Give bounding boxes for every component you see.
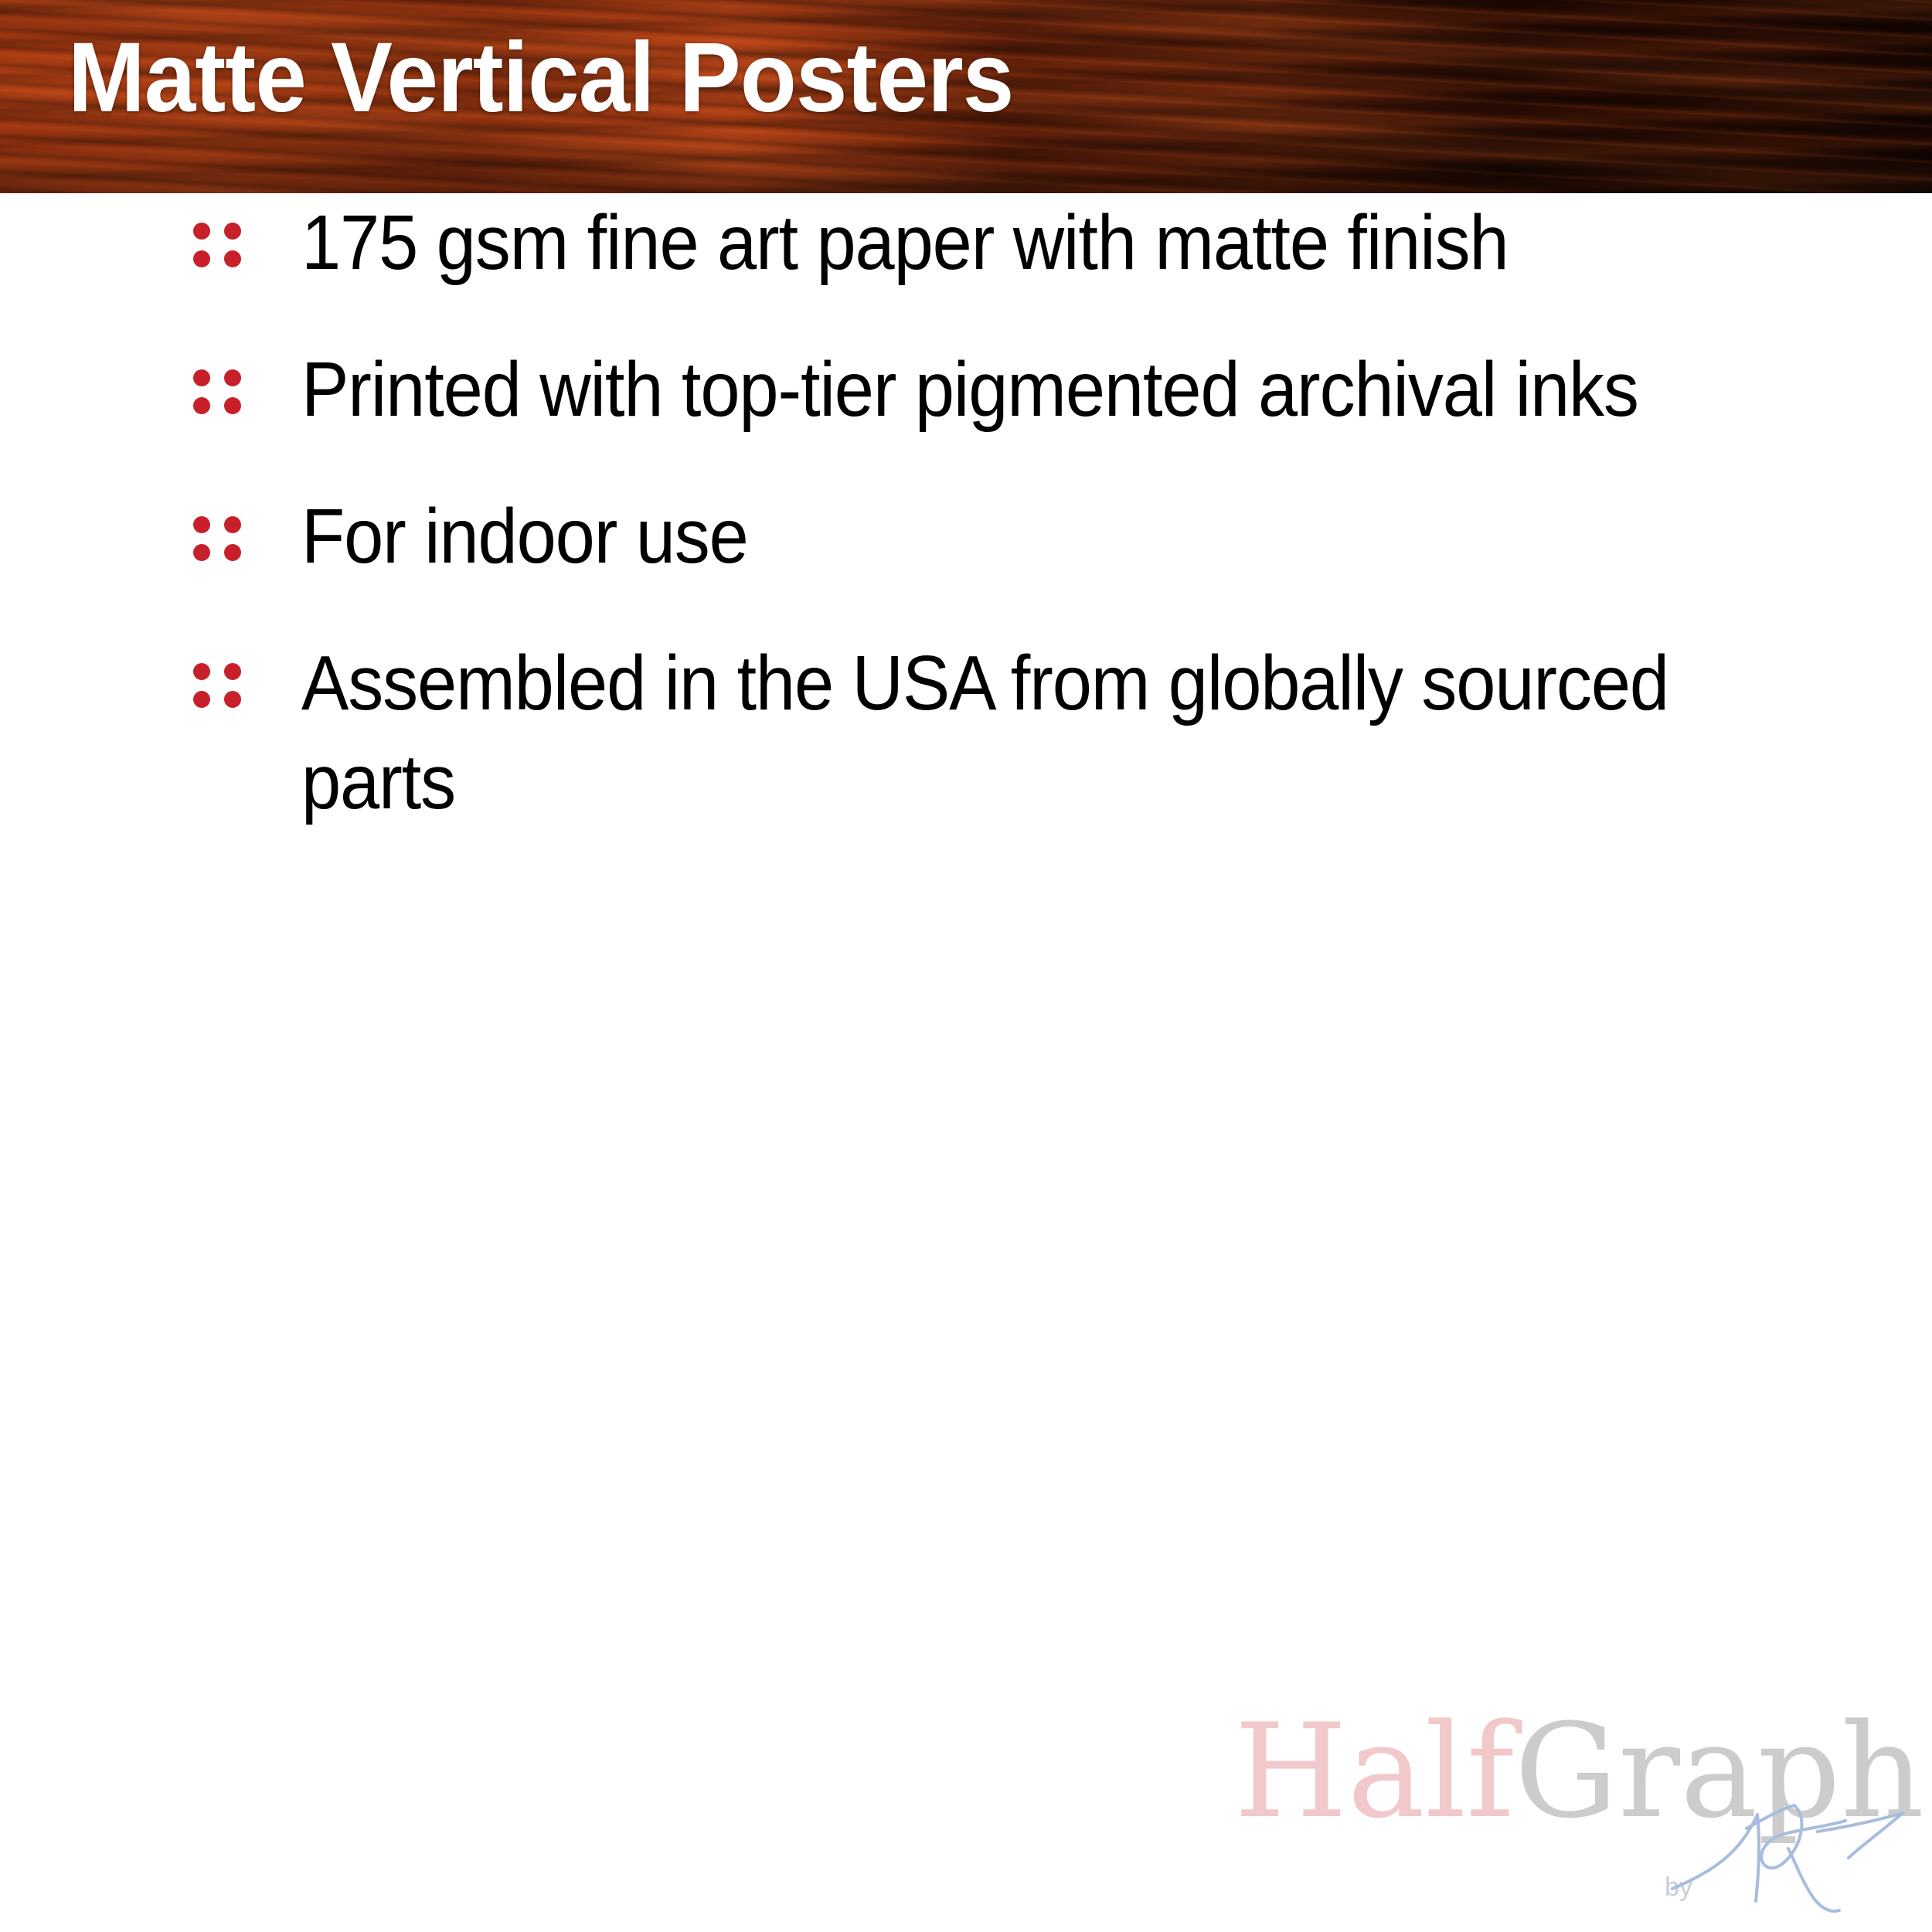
poster-info-slide: Matte Vertical Posters 175 gsm fine art … [0, 0, 1932, 1932]
bullet-dot [193, 544, 210, 561]
bullet-dot [224, 223, 241, 240]
bullet-dot [193, 223, 210, 240]
list-item: Assembled in the USA from globally sourc… [0, 634, 1932, 832]
bullet-dot [224, 397, 241, 414]
bullet-dot [224, 544, 241, 561]
list-item: 175 gsm fine art paper with matte finish [0, 193, 1932, 292]
bullet-dot [224, 663, 241, 680]
bullet-dot [193, 663, 210, 680]
list-item-label: Assembled in the USA from globally sourc… [301, 634, 1716, 832]
watermark-wordmark: HalfGraph [1229, 1706, 1924, 1836]
watermark-byline: by [1665, 1872, 1692, 1903]
watermark: HalfGraph by [1229, 1692, 1924, 1924]
signature-icon [1666, 1798, 1913, 1929]
page-title: Matte Vertical Posters [68, 26, 1013, 130]
bullet-dot [193, 397, 210, 414]
bullet-dot [224, 369, 241, 386]
bullet-dot [224, 691, 241, 708]
feature-list: 175 gsm fine art paper with matte finish… [0, 193, 1932, 879]
bullet-dot [193, 516, 210, 533]
watermark-brand-second: Graph [1515, 1696, 1924, 1847]
four-dot-bullet-icon [193, 369, 241, 414]
bullet-dot [224, 250, 241, 267]
four-dot-bullet-icon [193, 516, 241, 561]
watermark-brand-first: Half [1234, 1696, 1515, 1847]
list-item-label: For indoor use [301, 487, 1716, 586]
bullet-dot [193, 691, 210, 708]
list-item-label: Printed with top-tier pigmented archival… [301, 340, 1716, 439]
list-item: Printed with top-tier pigmented archival… [0, 340, 1932, 439]
list-item-label: 175 gsm fine art paper with matte finish [301, 193, 1716, 292]
list-item: For indoor use [0, 487, 1932, 586]
header-banner: Matte Vertical Posters [0, 0, 1932, 193]
four-dot-bullet-icon [193, 223, 241, 267]
four-dot-bullet-icon [193, 663, 241, 708]
bullet-dot [193, 369, 210, 386]
bullet-dot [224, 516, 241, 533]
bullet-dot [193, 250, 210, 267]
